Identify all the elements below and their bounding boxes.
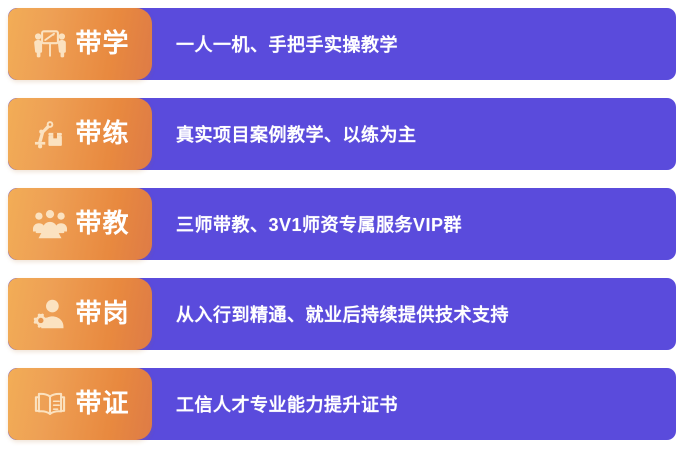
feature-description: 工信人才专业能力提升证书 bbox=[176, 368, 398, 440]
feature-row[interactable]: 工信人才专业能力提升证书 bbox=[8, 368, 676, 440]
person-gear-icon bbox=[30, 294, 70, 334]
feature-badge-label: 带教 bbox=[75, 210, 129, 238]
feature-badge-label: 带练 bbox=[75, 120, 129, 148]
feature-row[interactable]: 从入行到精通、就业后持续提供技术支持 带岗 bbox=[8, 278, 676, 350]
feature-badge[interactable]: 带学 bbox=[8, 8, 152, 80]
feature-badge-label: 带证 bbox=[75, 390, 129, 418]
robot-arm-icon bbox=[30, 114, 70, 154]
feature-row[interactable]: 真实项目案例教学、以练为主 bbox=[8, 98, 676, 170]
feature-description: 三师带教、3V1师资专属服务VIP群 bbox=[176, 188, 462, 260]
feature-badge[interactable]: 带练 bbox=[8, 98, 152, 170]
feature-list: 一人一机、手把手实操教学 bbox=[0, 0, 684, 450]
feature-description: 一人一机、手把手实操教学 bbox=[176, 8, 398, 80]
two-people-whiteboard-icon bbox=[30, 24, 70, 64]
feature-row[interactable]: 三师带教、3V1师资专属服务VIP群 bbox=[8, 188, 676, 260]
feature-badge-label: 带学 bbox=[75, 30, 129, 58]
feature-description: 真实项目案例教学、以练为主 bbox=[176, 98, 417, 170]
feature-badge-label: 带岗 bbox=[75, 300, 129, 328]
feature-badge[interactable]: 带教 bbox=[8, 188, 152, 260]
feature-badge[interactable]: 带证 bbox=[8, 368, 152, 440]
group-at-table-icon bbox=[30, 204, 70, 244]
open-book-icon bbox=[30, 384, 70, 424]
feature-row[interactable]: 一人一机、手把手实操教学 bbox=[8, 8, 676, 80]
feature-badge[interactable]: 带岗 bbox=[8, 278, 152, 350]
feature-description: 从入行到精通、就业后持续提供技术支持 bbox=[176, 278, 509, 350]
